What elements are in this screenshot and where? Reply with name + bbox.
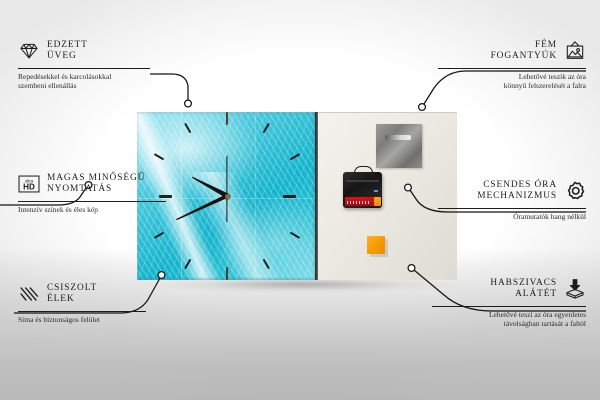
- foam-pad-press-icon: [564, 278, 586, 300]
- hanger-slot: [385, 135, 411, 140]
- callout-silent-mechanism[interactable]: CSENDES ÓRA MECHANIZMUS Óramutatók hang …: [438, 180, 586, 221]
- callout-subtitle-line1: Lehetővé teszik az óra: [438, 72, 586, 82]
- callout-title: EDZETT ÜVEG: [47, 40, 88, 63]
- ultra-hd-icon: ultra HD: [18, 173, 40, 195]
- callout-title: MAGAS MINŐSÉGŰ NYOMTATÁS: [47, 173, 145, 196]
- callout-rule: [438, 68, 586, 69]
- callout-rule: [438, 208, 586, 209]
- callout-subtitle-line2: könnyű felszerelését a falra: [438, 81, 586, 91]
- diagonal-stripes-icon: [18, 283, 40, 305]
- callout-rule: [18, 201, 166, 202]
- svg-text:HD: HD: [23, 183, 35, 192]
- clock-movement-box: [343, 172, 382, 208]
- infographic-canvas: EDZETT ÜVEG Repedésekkel és karcolásokka…: [0, 0, 600, 400]
- callout-header: ultra HD MAGAS MINŐSÉGŰ NYOMTATÁS: [18, 173, 166, 196]
- callout-tempered-glass[interactable]: EDZETT ÜVEG Repedésekkel és karcolásokka…: [18, 40, 150, 91]
- picture-frame-hanger-icon: [564, 40, 586, 62]
- callout-title: FÉM FOGANTYÚK: [491, 40, 557, 63]
- callout-high-quality-print[interactable]: ultra HD MAGAS MINŐSÉGŰ NYOMTATÁS Intenz…: [18, 173, 166, 214]
- callout-subtitle-line1: Óramutatók hang nélkül: [438, 212, 586, 222]
- callout-rule: [18, 311, 146, 312]
- gear-icon: [564, 180, 586, 202]
- movement-label-barcode: [347, 201, 369, 204]
- callout-metal-handles[interactable]: FÉM FOGANTYÚK Lehetővé teszik az óra kön…: [438, 40, 586, 91]
- callout-subtitle-line1: Sima és biztonságos felület: [18, 315, 146, 325]
- clock-back-panel: [318, 112, 457, 280]
- callout-title: CSENDES ÓRA MECHANIZMUS: [477, 180, 557, 203]
- callout-subtitle-line1: Intenzív színek és éles kép: [18, 205, 166, 215]
- callout-header: HABSZIVACS ALÁTÉT: [432, 278, 586, 301]
- product-image: [137, 112, 457, 282]
- callout-subtitle-line2: távolságban tartását a faltól: [432, 319, 586, 329]
- movement-band: [346, 180, 379, 182]
- callout-subtitle-line2: szembeni ellenállás: [18, 81, 150, 91]
- callout-rule: [18, 68, 150, 69]
- callout-title: CSISZOLT ÉLEK: [47, 283, 97, 306]
- product-drop-shadow: [141, 278, 463, 294]
- diamond-icon: [18, 40, 40, 62]
- callout-header: EDZETT ÜVEG: [18, 40, 150, 63]
- callout-polished-edges[interactable]: CSISZOLT ÉLEK Sima és biztonságos felüle…: [18, 283, 146, 324]
- callout-header: CSENDES ÓRA MECHANIZMUS: [438, 180, 586, 203]
- metal-hanger-plate: [376, 124, 422, 168]
- callout-subtitle-line1: Repedésekkel és karcolásokkal: [18, 72, 150, 82]
- callout-rule: [432, 306, 586, 307]
- callout-title: HABSZIVACS ALÁTÉT: [490, 278, 557, 301]
- movement-battery-tag: [374, 197, 381, 206]
- movement-hanging-loop: [354, 166, 373, 176]
- callout-subtitle-line1: Lehetővé teszi az óra egyenletes: [432, 310, 586, 320]
- back-panel-top-edge: [318, 112, 457, 113]
- callout-foam-backing[interactable]: HABSZIVACS ALÁTÉT Lehetővé teszi az óra …: [432, 278, 586, 329]
- foam-pad: [367, 236, 385, 254]
- callout-header: FÉM FOGANTYÚK: [438, 40, 586, 63]
- callout-header: CSISZOLT ÉLEK: [18, 283, 146, 306]
- movement-indicator: [374, 190, 378, 192]
